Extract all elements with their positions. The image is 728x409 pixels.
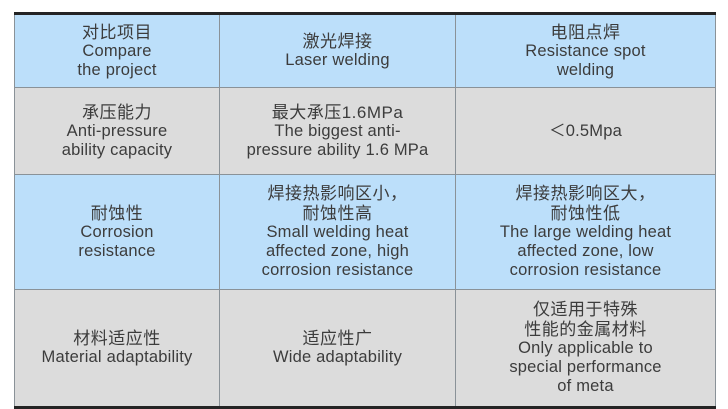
text-line: 耐蚀性低 (462, 204, 709, 223)
page-canvas: 对比项目 Compare the project 激光焊接 Laser weld… (0, 0, 728, 405)
text-line: of meta (462, 377, 709, 396)
text-line: Only applicable to (462, 339, 709, 358)
text-line: 电阻点焊 (462, 23, 709, 42)
cn-block: 承压能力 (21, 103, 213, 122)
text-line: ＜0.5Mpa (462, 122, 709, 141)
header-cn-resistance-spot-welding: 电阻点焊 (462, 23, 709, 42)
header-cell-compare-project: 对比项目 Compare the project (15, 14, 220, 88)
en-block: Material adaptability (21, 348, 213, 367)
table-body: 对比项目 Compare the project 激光焊接 Laser weld… (15, 14, 716, 408)
header-cell-resistance-spot-welding: 电阻点焊 Resistance spot welding (456, 14, 716, 88)
en-block: Wide adaptability (226, 348, 449, 367)
header-en-laser-welding: Laser welding (226, 51, 449, 70)
en-block: Only applicable to special performance o… (462, 339, 709, 395)
text-line: 仅适用于特殊 (462, 300, 709, 319)
en-block: Anti-pressure ability capacity (21, 122, 213, 160)
welding-comparison-table: 对比项目 Compare the project 激光焊接 Laser weld… (14, 12, 716, 409)
text-line: corrosion resistance (226, 261, 449, 280)
text-line: corrosion resistance (462, 261, 709, 280)
text-line: 耐蚀性高 (226, 204, 449, 223)
table-header-row: 对比项目 Compare the project 激光焊接 Laser weld… (15, 14, 716, 88)
text-line: 焊接热影响区大， (462, 184, 709, 203)
text-line: special performance (462, 358, 709, 377)
text-line: 性能的金属材料 (462, 320, 709, 339)
en-block: The biggest anti- pressure ability 1.6 M… (226, 122, 449, 160)
cn-block: 适应性广 (226, 329, 449, 348)
en-block: Corrosion resistance (21, 223, 213, 261)
text-line: 焊接热影响区小， (226, 184, 449, 203)
text-line: The large welding heat (462, 223, 709, 242)
text-line: pressure ability 1.6 MPa (226, 141, 449, 160)
table-row: 耐蚀性 Corrosion resistance 焊接热影响区小， 耐蚀性高 S… (15, 175, 716, 290)
en-block: ＜0.5Mpa (462, 122, 709, 141)
cell-corrosion-laser: 焊接热影响区小， 耐蚀性高 Small welding heat affecte… (220, 175, 456, 290)
text-line: Laser welding (226, 51, 449, 70)
header-cell-laser-welding: 激光焊接 Laser welding (220, 14, 456, 88)
header-cn-compare-project: 对比项目 (21, 23, 213, 42)
text-line: 激光焊接 (226, 32, 449, 51)
cell-material-resistance: 仅适用于特殊 性能的金属材料 Only applicable to specia… (456, 290, 716, 408)
cn-block: 最大承压1.6MPa (226, 103, 449, 122)
text-line: 适应性广 (226, 329, 449, 348)
text-line: Corrosion (21, 223, 213, 242)
text-line: Wide adaptability (226, 348, 449, 367)
table-row: 承压能力 Anti-pressure ability capacity 最大承压… (15, 88, 716, 175)
text-line: The biggest anti- (226, 122, 449, 141)
text-line: 承压能力 (21, 103, 213, 122)
text-line: 耐蚀性 (21, 204, 213, 223)
text-line: affected zone, low (462, 242, 709, 261)
text-line: 最大承压1.6MPa (226, 103, 449, 122)
text-line: 材料适应性 (21, 329, 213, 348)
header-en-compare-project: Compare the project (21, 42, 213, 80)
cell-anti-pressure-resistance: ＜0.5Mpa (456, 88, 716, 175)
text-line: Anti-pressure (21, 122, 213, 141)
text-line: resistance (21, 242, 213, 261)
cn-block: 仅适用于特殊 性能的金属材料 (462, 300, 709, 339)
cn-block: 焊接热影响区小， 耐蚀性高 (226, 184, 449, 223)
cell-corrosion-label: 耐蚀性 Corrosion resistance (15, 175, 220, 290)
en-block: Small welding heat affected zone, high c… (226, 223, 449, 279)
text-line: the project (21, 61, 213, 80)
text-line: ability capacity (21, 141, 213, 160)
cell-material-label: 材料适应性 Material adaptability (15, 290, 220, 408)
text-line: Material adaptability (21, 348, 213, 367)
header-en-resistance-spot-welding: Resistance spot welding (462, 42, 709, 80)
cell-anti-pressure-laser: 最大承压1.6MPa The biggest anti- pressure ab… (220, 88, 456, 175)
cn-block: 耐蚀性 (21, 204, 213, 223)
cn-block: 焊接热影响区大， 耐蚀性低 (462, 184, 709, 223)
cell-anti-pressure-label: 承压能力 Anti-pressure ability capacity (15, 88, 220, 175)
text-line: welding (462, 61, 709, 80)
text-line: Compare (21, 42, 213, 61)
cn-block: 材料适应性 (21, 329, 213, 348)
text-line: Resistance spot (462, 42, 709, 61)
text-line: Small welding heat (226, 223, 449, 242)
table-row: 材料适应性 Material adaptability 适应性广 Wide ad… (15, 290, 716, 408)
text-line: 对比项目 (21, 23, 213, 42)
header-cn-laser-welding: 激光焊接 (226, 32, 449, 51)
en-block: The large welding heat affected zone, lo… (462, 223, 709, 279)
cell-corrosion-resistance-spot: 焊接热影响区大， 耐蚀性低 The large welding heat aff… (456, 175, 716, 290)
text-line: affected zone, high (226, 242, 449, 261)
cell-material-laser: 适应性广 Wide adaptability (220, 290, 456, 408)
